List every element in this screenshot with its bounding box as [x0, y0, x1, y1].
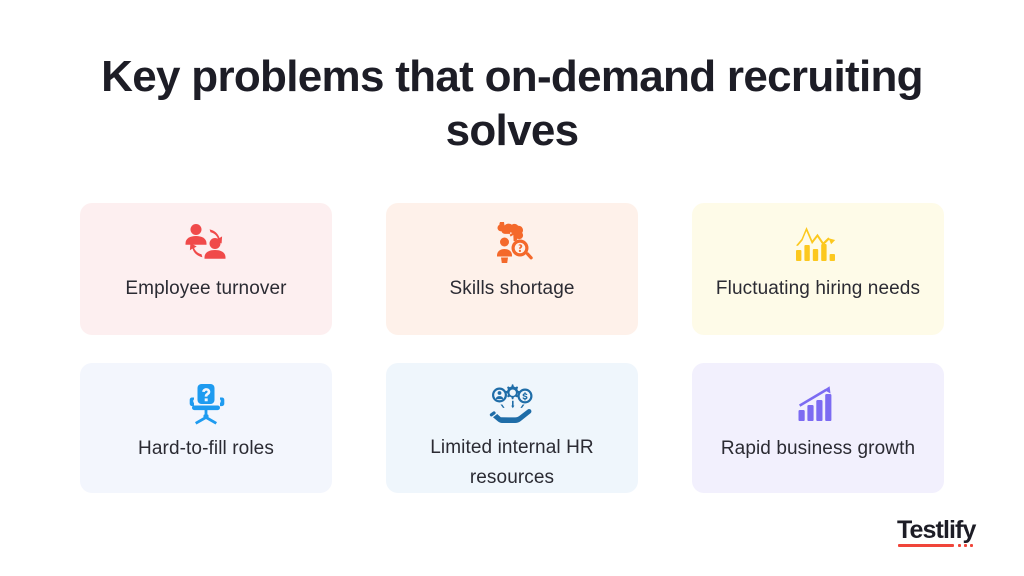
- rapid-business-growth-icon: [790, 380, 846, 428]
- problem-card-limited-hr-resources[interactable]: Limited internal HR resources: [386, 363, 638, 493]
- logo-underline-accent: [897, 543, 989, 551]
- problem-card-label: Employee turnover: [117, 274, 294, 304]
- employee-turnover-icon: [178, 220, 234, 268]
- problem-card-label: Skills shortage: [441, 274, 582, 304]
- problem-card-employee-turnover[interactable]: Employee turnover: [80, 203, 332, 335]
- limited-hr-resources-icon: [484, 380, 540, 427]
- logo-dot-1: [958, 544, 961, 547]
- problem-card-hard-to-fill-roles[interactable]: Hard-to-fill roles: [80, 363, 332, 493]
- problem-card-skills-shortage[interactable]: Skills shortage: [386, 203, 638, 335]
- problem-card-grid: Employee turnover: [80, 203, 944, 493]
- logo-dot-2: [964, 544, 967, 547]
- page-title: Key problems that on-demand recruiting s…: [52, 50, 972, 158]
- testlify-logo[interactable]: Testlify: [897, 516, 989, 558]
- problem-card-rapid-business-growth[interactable]: Rapid business growth: [692, 363, 944, 493]
- problem-card-label: Fluctuating hiring needs: [708, 274, 928, 304]
- problem-card-fluctuating-hiring-needs[interactable]: Fluctuating hiring needs: [692, 203, 944, 335]
- problem-card-label: Rapid business growth: [713, 434, 923, 464]
- logo-dot-3: [970, 544, 973, 547]
- problem-card-label: Hard-to-fill roles: [130, 434, 282, 464]
- skills-shortage-icon: [484, 220, 540, 268]
- logo-underline-bar: [898, 544, 954, 547]
- fluctuating-hiring-needs-icon: [790, 220, 846, 268]
- hard-to-fill-roles-icon: [178, 380, 234, 428]
- slide-canvas: Key problems that on-demand recruiting s…: [0, 0, 1024, 576]
- logo-wordmark: Testlify: [897, 516, 989, 544]
- problem-card-label: Limited internal HR resources: [386, 433, 638, 493]
